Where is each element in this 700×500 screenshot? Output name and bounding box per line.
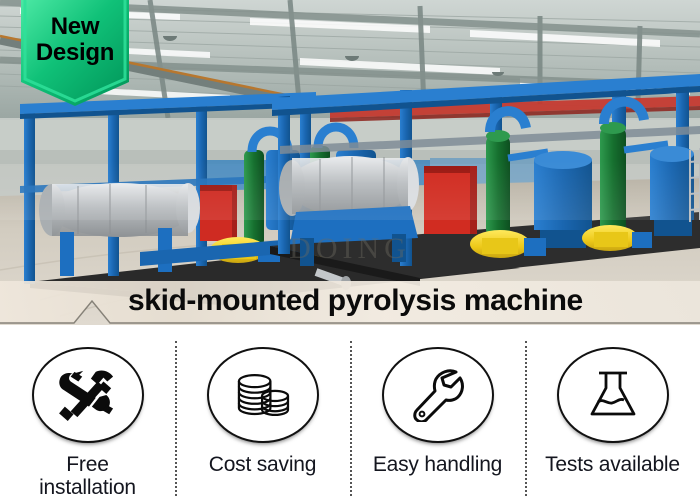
new-design-badge: New Design: [19, 0, 131, 108]
wrench-icon: [409, 368, 467, 422]
product-banner: DOING New Design: [0, 0, 700, 500]
features-row: Free installation: [0, 325, 700, 500]
feature-label: Easy handling: [373, 453, 502, 477]
feature-icon-circle: [207, 347, 319, 443]
feature-label: Tests available: [545, 453, 680, 477]
flask-icon: [586, 368, 640, 422]
feature-icon-circle: [32, 347, 144, 443]
coin-stack-icon: [233, 370, 293, 420]
feature-label: Free installation: [39, 453, 136, 500]
page-title: skid-mounted pyrolysis machine: [0, 281, 700, 323]
badge-shape-icon: [19, 0, 131, 108]
feature-icon-circle: [382, 347, 494, 443]
feature-label: Cost saving: [209, 453, 317, 477]
feature-icon-circle: [557, 347, 669, 443]
hammer-wrench-icon: [57, 368, 119, 422]
feature-cost-saving: Cost saving: [175, 325, 350, 500]
title-band: skid-mounted pyrolysis machine: [0, 281, 700, 325]
feature-free-installation: Free installation: [0, 325, 175, 500]
feature-tests-available: Tests available: [525, 325, 700, 500]
feature-easy-handling: Easy handling: [350, 325, 525, 500]
